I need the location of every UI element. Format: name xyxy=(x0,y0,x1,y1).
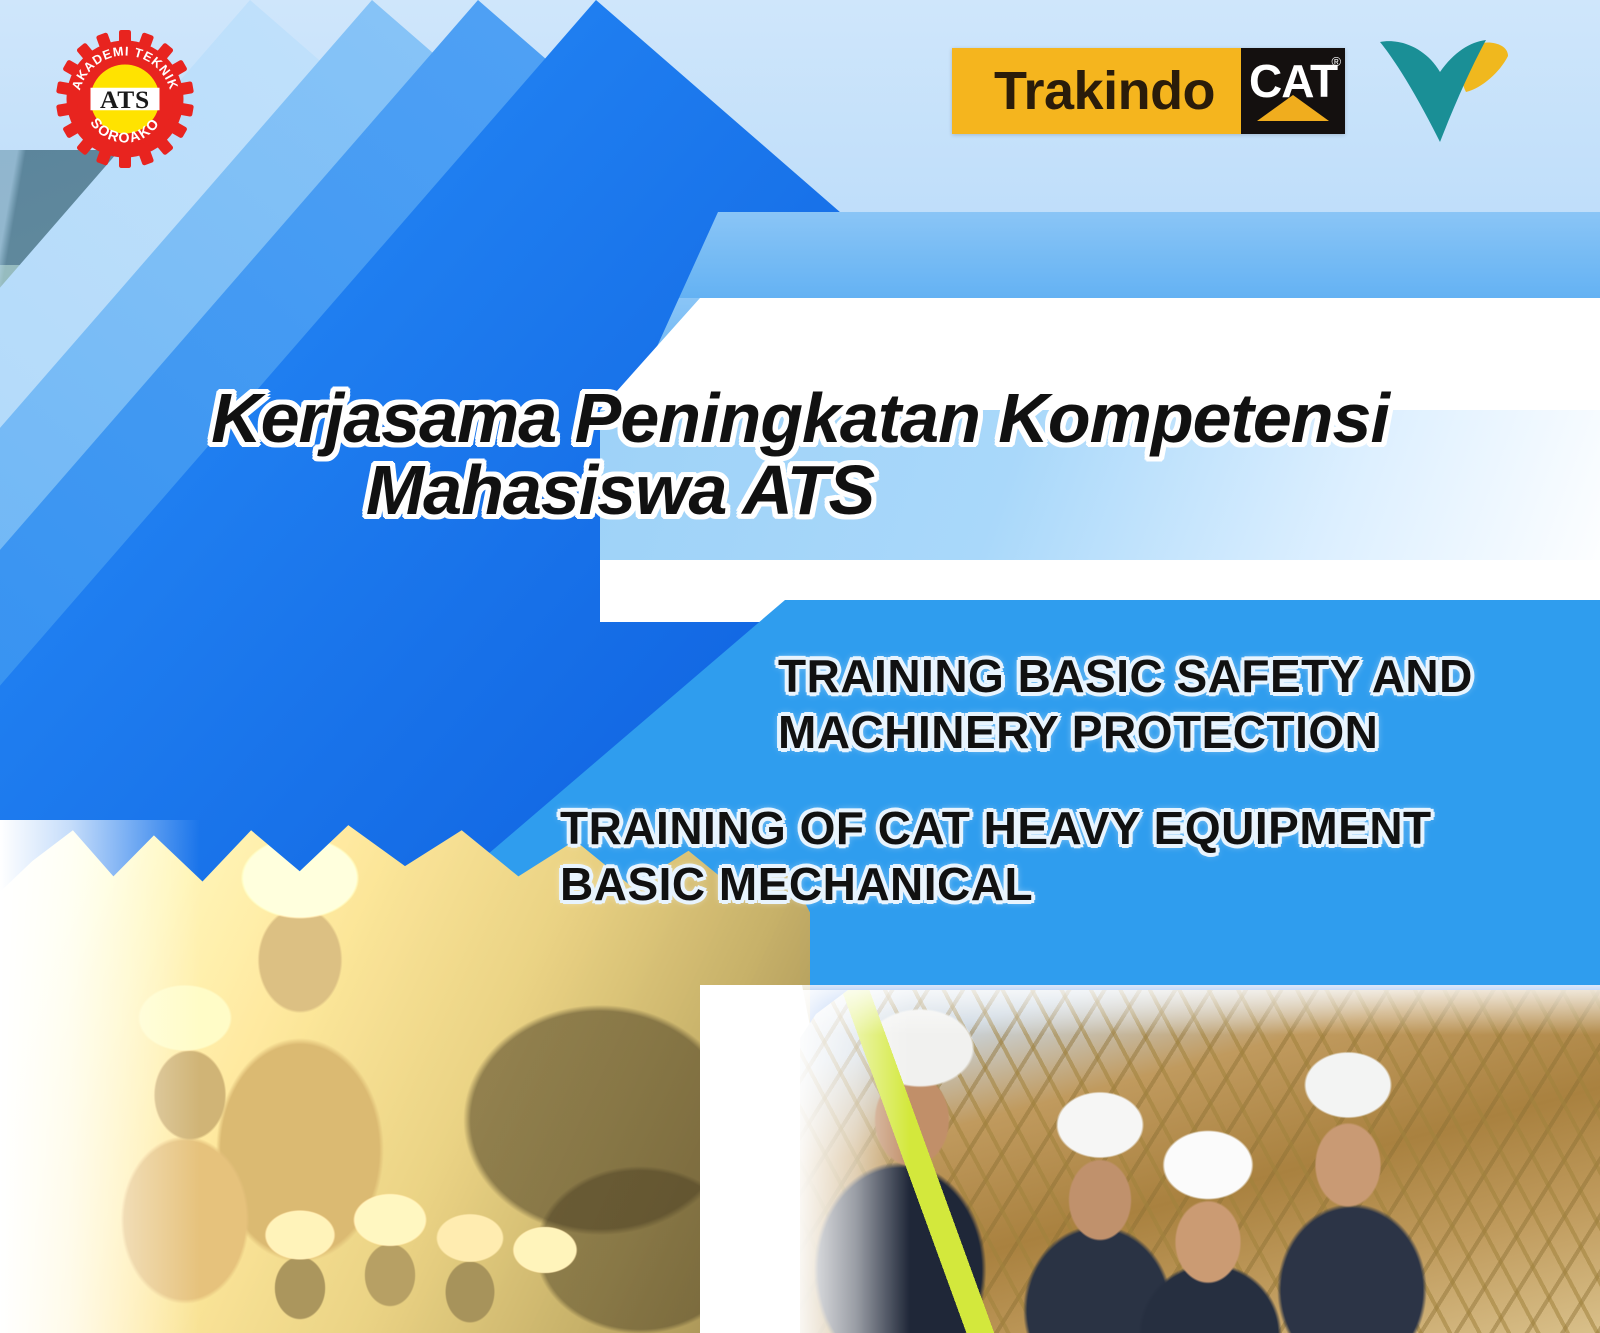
trakindo-wordmark: Trakindo xyxy=(952,48,1241,134)
vale-logo-svg xyxy=(1370,26,1510,150)
course-item-mechanical: TRAINING OF CAT HEAVY EQUIPMENT BASIC ME… xyxy=(560,800,1560,912)
trakindo-cat-logo: Trakindo CAT ® xyxy=(952,48,1345,134)
registered-trademark-icon: ® xyxy=(1331,54,1341,69)
page-title-line1: Kerjasama Peningkatan Kompetensi xyxy=(150,382,1450,454)
vale-logo xyxy=(1370,26,1510,150)
course-item-safety: TRAINING BASIC SAFETY AND MACHINERY PROT… xyxy=(778,648,1538,760)
cat-triangle-icon xyxy=(1257,95,1329,121)
sepia-photo-fade xyxy=(0,820,200,1333)
cat-logo-box: CAT ® xyxy=(1241,48,1345,134)
course-mechanical-line2: BASIC MECHANICAL xyxy=(560,856,1560,912)
ats-logo-center-text: ATS xyxy=(100,85,150,114)
ats-logo-svg: AKADEMI TEKNIK SOROAKO ATS xyxy=(44,24,206,174)
engineers-photo-left-fade xyxy=(790,990,910,1333)
promotional-poster: AKADEMI TEKNIK SOROAKO ATS Trakindo CAT … xyxy=(0,0,1600,1333)
page-title-line2: Mahasiswa ATS xyxy=(0,454,1450,526)
vale-teal-v-icon xyxy=(1380,40,1486,142)
course-safety-line2: MACHINERY PROTECTION xyxy=(778,704,1538,760)
page-title: Kerjasama Peningkatan Kompetensi Mahasis… xyxy=(150,382,1450,526)
engineers-photo xyxy=(800,990,1600,1333)
engineers-photo-top-fade xyxy=(800,985,1600,1035)
course-safety-line1: TRAINING BASIC SAFETY AND xyxy=(778,648,1538,704)
ats-soroako-logo: AKADEMI TEKNIK SOROAKO ATS xyxy=(44,24,206,174)
course-mechanical-line1: TRAINING OF CAT HEAVY EQUIPMENT xyxy=(560,800,1560,856)
